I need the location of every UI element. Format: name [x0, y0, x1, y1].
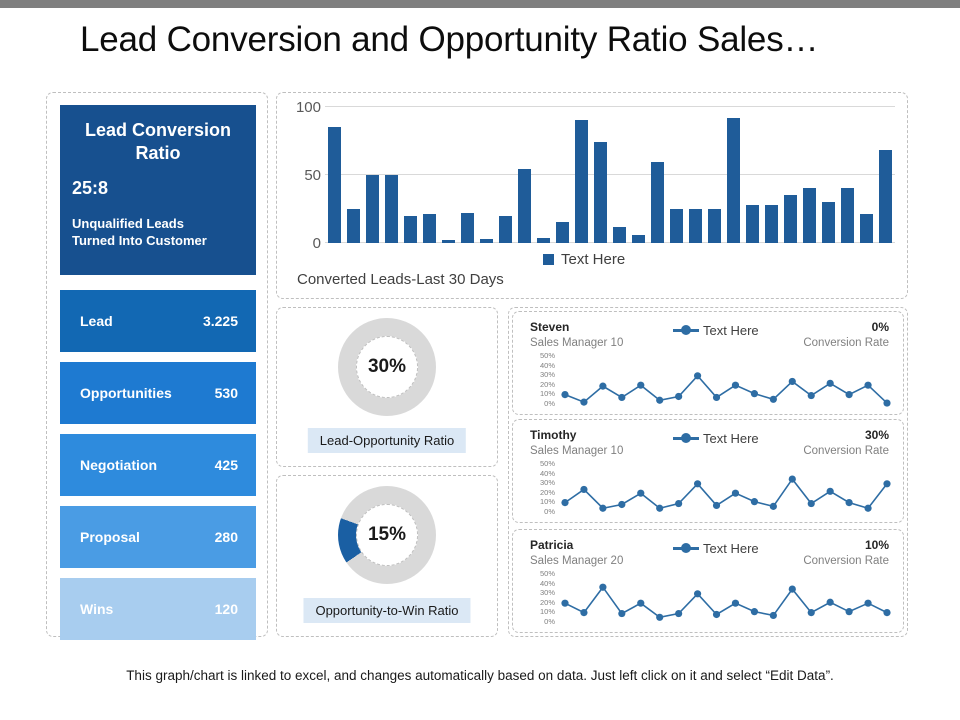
sparkline-point: 7%	[618, 394, 625, 401]
sales-manager-role: Sales Manager 10	[530, 445, 623, 457]
y-tick-label: 10%	[540, 390, 555, 398]
sparkline-point: 20%	[732, 490, 739, 497]
bar	[556, 222, 569, 243]
sparkline-legend: Text Here	[673, 323, 759, 338]
sparkline-point: 24%	[580, 486, 587, 493]
hero-subtitle-line1: Unqualified Leads	[72, 215, 244, 232]
sales-manager-name: Patricia	[530, 538, 573, 552]
bar	[841, 188, 854, 243]
sparkline-plot-area: 10%24%4%8%20%4%9%30%7%20%11%6%35%9%22%10…	[559, 460, 895, 516]
sparkline-point: 4%	[599, 505, 606, 512]
sparkline-point: 35%	[789, 586, 796, 593]
bar	[594, 142, 607, 243]
sparkline-point: 20%	[864, 600, 871, 607]
sparkline-point: 9%	[618, 610, 625, 617]
sparkline-point: 19%	[599, 383, 606, 390]
bar	[385, 175, 398, 244]
legend-line-marker-icon	[673, 547, 699, 550]
sparkline-point: 20%	[637, 600, 644, 607]
conversion-rate-value: 0%	[872, 320, 889, 334]
y-tick-label: 40%	[540, 362, 555, 370]
sparkline-point: 4%	[656, 505, 663, 512]
funnel-stage-wins[interactable]: Wins120	[60, 578, 256, 640]
bar-series	[325, 106, 895, 243]
sparkline-point: 8%	[618, 501, 625, 508]
bar	[537, 238, 550, 243]
y-tick-label: 50	[304, 167, 321, 184]
sparkline-point: 7%	[770, 612, 777, 619]
sparkline-point: 20%	[732, 382, 739, 389]
donut-center-value: 30%	[356, 336, 418, 398]
sparkline-point: 20%	[561, 600, 568, 607]
sparkline-point: 11%	[751, 498, 758, 505]
sparkline-point: 10%	[846, 391, 853, 398]
bar	[404, 216, 417, 243]
bar	[347, 209, 360, 243]
sales-manager-role: Sales Manager 20	[530, 555, 623, 567]
legend-label: Text Here	[703, 431, 759, 446]
hero-ratio-value: 25:8	[72, 178, 244, 199]
bar-chart: 100500 Text Here Converted Leads-Last 30…	[277, 93, 909, 300]
sparkline-legend: Text Here	[673, 541, 759, 556]
converted-leads-chart-panel: 100500 Text Here Converted Leads-Last 30…	[276, 92, 908, 299]
bar	[461, 213, 474, 243]
sparkline-point: 7%	[713, 502, 720, 509]
conversion-rate-value: 30%	[865, 428, 889, 442]
conversion-rate-value: 10%	[865, 538, 889, 552]
footer-note: This graph/chart is linked to excel, and…	[0, 668, 960, 683]
sparkline-point: 7%	[713, 394, 720, 401]
sparkline-point: 5%	[656, 614, 663, 621]
lead-opportunity-donut-chart: 30%	[338, 318, 436, 416]
legend-swatch-icon	[543, 254, 554, 265]
bar	[879, 150, 892, 243]
sparkline-point: 10%	[808, 609, 815, 616]
bar	[518, 169, 531, 243]
bar	[784, 195, 797, 243]
sparkline-point: 20%	[864, 382, 871, 389]
sales-manager-card: Timothy Sales Manager 10 Text Here 30% C…	[512, 419, 904, 523]
bar	[822, 202, 835, 243]
sparkline-point: 8%	[675, 393, 682, 400]
sparkline-point: 8%	[713, 611, 720, 618]
y-tick-label: 10%	[540, 498, 555, 506]
funnel-stage-label: Proposal	[80, 529, 140, 545]
sparkline-point: 9%	[675, 500, 682, 507]
y-tick-label: 20%	[540, 381, 555, 389]
bar	[689, 209, 702, 243]
bar-chart-legend: Text Here	[543, 251, 625, 268]
legend-label: Text Here	[703, 323, 759, 338]
sales-manager-card: Patricia Sales Manager 20 Text Here 10% …	[512, 529, 904, 633]
sparkline-point: 37%	[599, 584, 606, 591]
y-tick-label: 0	[313, 235, 321, 252]
bar	[632, 235, 645, 243]
funnel-stage-proposal[interactable]: Proposal280	[60, 506, 256, 568]
y-tick-label: 20%	[540, 489, 555, 497]
bar-chart-y-axis: 100500	[285, 93, 321, 243]
bar	[423, 214, 436, 243]
opportunity-to-win-ratio-label: Opportunity-to-Win Ratio	[303, 598, 470, 623]
sparkline-path	[565, 587, 887, 617]
hero-title: Lead Conversion Ratio	[72, 119, 244, 165]
legend-label: Text Here	[703, 541, 759, 556]
bar	[366, 175, 379, 244]
conversion-rate-label: Conversion Rate	[803, 337, 889, 349]
sparkline-point: 20%	[732, 600, 739, 607]
sparkline-point: 10%	[561, 391, 568, 398]
y-tick-label: 100	[296, 99, 321, 116]
lead-conversion-ratio-card: Lead Conversion Ratio 25:8 Unqualified L…	[60, 105, 256, 275]
sparkline-plot-area: 10%2%19%7%20%4%8%30%7%20%11%5%24%9%22%10…	[559, 352, 895, 408]
sparkline-path	[565, 479, 887, 508]
sparkline-point: 9%	[808, 392, 815, 399]
sparkline-point: 10%	[580, 609, 587, 616]
bar-chart-caption: Converted Leads-Last 30 Days	[297, 271, 504, 288]
sales-manager-card: Steven Sales Manager 10 Text Here 0% Con…	[512, 311, 904, 415]
funnel-stage-value: 3.225	[203, 313, 238, 329]
sparkline-point: 10%	[561, 499, 568, 506]
sales-manager-name: Timothy	[530, 428, 576, 442]
bar-chart-plot-area	[325, 106, 895, 243]
funnel-stage-label: Lead	[80, 313, 113, 329]
bar	[499, 216, 512, 243]
sparkline-point: 30%	[694, 480, 701, 487]
bar	[480, 239, 493, 243]
bar	[613, 227, 626, 243]
bar	[670, 209, 683, 243]
funnel-stage-negotiation[interactable]: Negotiation425	[60, 434, 256, 496]
top-accent-bar	[0, 0, 960, 8]
sparkline-path	[565, 376, 887, 403]
lead-opportunity-ratio-label: Lead-Opportunity Ratio	[308, 428, 466, 453]
y-tick-label: 0%	[544, 400, 555, 408]
y-tick-label: 30%	[540, 479, 555, 487]
conversion-rate-label: Conversion Rate	[803, 445, 889, 457]
lead-opportunity-ratio-panel: 30% Lead-Opportunity Ratio	[276, 307, 498, 467]
sparkline-point: 30%	[883, 480, 890, 487]
bar	[328, 127, 341, 243]
bar	[575, 120, 588, 243]
y-tick-label: 50%	[540, 460, 555, 468]
sparkline-point: 4%	[864, 505, 871, 512]
opportunity-to-win-ratio-panel: 15% Opportunity-to-Win Ratio	[276, 475, 498, 637]
sparkline-y-axis: 50%40%30%20%10%0%	[527, 570, 555, 625]
y-tick-label: 50%	[540, 352, 555, 360]
sparkline-point: 24%	[789, 378, 796, 385]
opportunity-to-win-donut-chart: 15%	[338, 486, 436, 584]
funnel-stage-value: 280	[215, 529, 238, 545]
sparkline-point: 1%	[883, 399, 890, 406]
sparkline-point: 11%	[751, 390, 758, 397]
sparkline-point: 11%	[846, 608, 853, 615]
sparkline-y-axis: 50%40%30%20%10%0%	[527, 460, 555, 515]
hero-subtitle: Unqualified Leads Turned Into Customer	[72, 215, 244, 249]
funnel-stage-value: 530	[215, 385, 238, 401]
funnel-stage-label: Opportunities	[80, 385, 172, 401]
sales-manager-role: Sales Manager 10	[530, 337, 623, 349]
bar	[651, 162, 664, 243]
sparkline-y-axis: 50%40%30%20%10%0%	[527, 352, 555, 407]
hero-subtitle-line2: Turned Into Customer	[72, 232, 244, 249]
y-tick-label: 30%	[540, 371, 555, 379]
y-tick-label: 0%	[544, 508, 555, 516]
sparkline-point: 10%	[883, 609, 890, 616]
conversion-rate-label: Conversion Rate	[803, 555, 889, 567]
sparkline-point: 4%	[656, 397, 663, 404]
donut-center-value: 15%	[356, 504, 418, 566]
sparkline-point: 6%	[770, 503, 777, 510]
sparkline-point: 2%	[580, 399, 587, 406]
funnel-stage-label: Negotiation	[80, 457, 157, 473]
sparkline-point: 11%	[751, 608, 758, 615]
bar	[746, 205, 759, 243]
y-tick-label: 50%	[540, 570, 555, 578]
sparkline-point: 21%	[827, 599, 834, 606]
sparkline-legend: Text Here	[673, 431, 759, 446]
sparkline-point: 22%	[827, 488, 834, 495]
bar	[765, 205, 778, 243]
sparkline-point: 10%	[846, 499, 853, 506]
legend-label: Text Here	[561, 251, 625, 268]
bar	[708, 209, 721, 243]
sales-manager-performance-panel: Steven Sales Manager 10 Text Here 0% Con…	[508, 307, 908, 637]
funnel-stage-opportunities[interactable]: Opportunities530	[60, 362, 256, 424]
bar	[860, 214, 873, 243]
lead-conversion-panel: Lead Conversion Ratio 25:8 Unqualified L…	[46, 92, 268, 637]
funnel-stage-label: Wins	[80, 601, 113, 617]
funnel-stage-value: 120	[215, 601, 238, 617]
y-tick-label: 10%	[540, 608, 555, 616]
sales-manager-name: Steven	[530, 320, 569, 334]
sparkline-point: 9%	[675, 610, 682, 617]
y-tick-label: 0%	[544, 618, 555, 626]
y-tick-label: 20%	[540, 599, 555, 607]
page-title: Lead Conversion and Opportunity Ratio Sa…	[80, 17, 900, 63]
bar	[803, 188, 816, 243]
sparkline-point: 20%	[637, 382, 644, 389]
funnel-stage-value: 425	[215, 457, 238, 473]
legend-line-marker-icon	[673, 437, 699, 440]
bar	[727, 118, 740, 243]
sparkline-point: 35%	[789, 476, 796, 483]
sparkline-point: 5%	[770, 396, 777, 403]
bar	[442, 240, 455, 243]
sparkline-point: 9%	[808, 500, 815, 507]
y-tick-label: 30%	[540, 589, 555, 597]
sparkline-plot-area: 20%10%37%9%20%5%9%30%8%20%11%7%35%10%21%…	[559, 570, 895, 626]
y-tick-label: 40%	[540, 470, 555, 478]
funnel-stage-lead[interactable]: Lead3.225	[60, 290, 256, 352]
legend-line-marker-icon	[673, 329, 699, 332]
sparkline-point: 22%	[827, 380, 834, 387]
y-tick-label: 40%	[540, 580, 555, 588]
sparkline-point: 30%	[694, 372, 701, 379]
sparkline-point: 30%	[694, 590, 701, 597]
sparkline-point: 20%	[637, 490, 644, 497]
